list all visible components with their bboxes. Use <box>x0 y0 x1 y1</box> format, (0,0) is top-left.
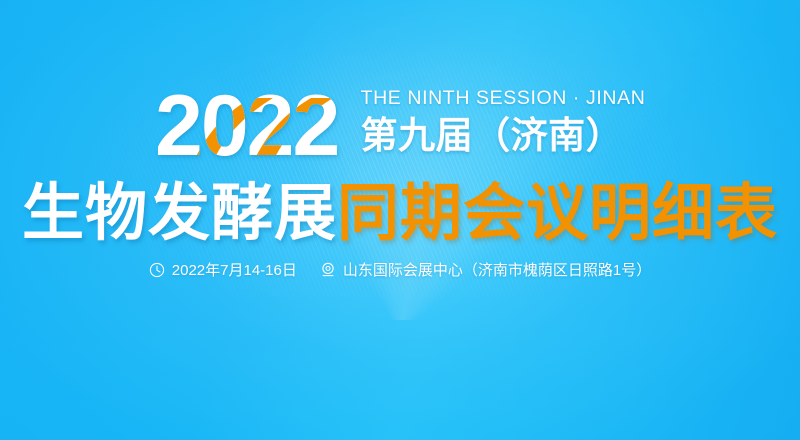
event-banner: 2022 2022 THE NINTH SESSION · JINAN <box>0 0 800 440</box>
title-lockup: 2022 2022 THE NINTH SESSION · JINAN <box>0 86 800 162</box>
year-digits: 2022 <box>155 78 338 174</box>
headline-orange-part: 同期会议明细表 <box>337 179 778 248</box>
clock-icon <box>149 262 165 278</box>
event-date: 2022年7月14-16日 <box>172 263 297 278</box>
lockup-text-block: THE NINTH SESSION · JINAN 第九届（济南） <box>361 86 646 155</box>
location-pin-icon <box>320 262 336 278</box>
event-meta: 2022年7月14-16日 山东国际会展中心（济南市槐荫区日照路1号） <box>0 262 800 278</box>
banner-content: 2022 2022 THE NINTH SESSION · JINAN <box>0 0 800 440</box>
english-subtitle: THE NINTH SESSION · JINAN <box>361 89 646 109</box>
headline-white-part: 生物发酵展 <box>22 179 337 248</box>
page-title: 生物发酵展同期会议明细表 <box>0 181 800 248</box>
svg-text:2022: 2022 <box>155 78 338 174</box>
event-venue: 山东国际会展中心（济南市槐荫区日照路1号） <box>343 263 651 278</box>
year-logo: 2022 2022 <box>155 86 351 162</box>
chinese-session-title: 第九届（济南） <box>361 116 646 155</box>
